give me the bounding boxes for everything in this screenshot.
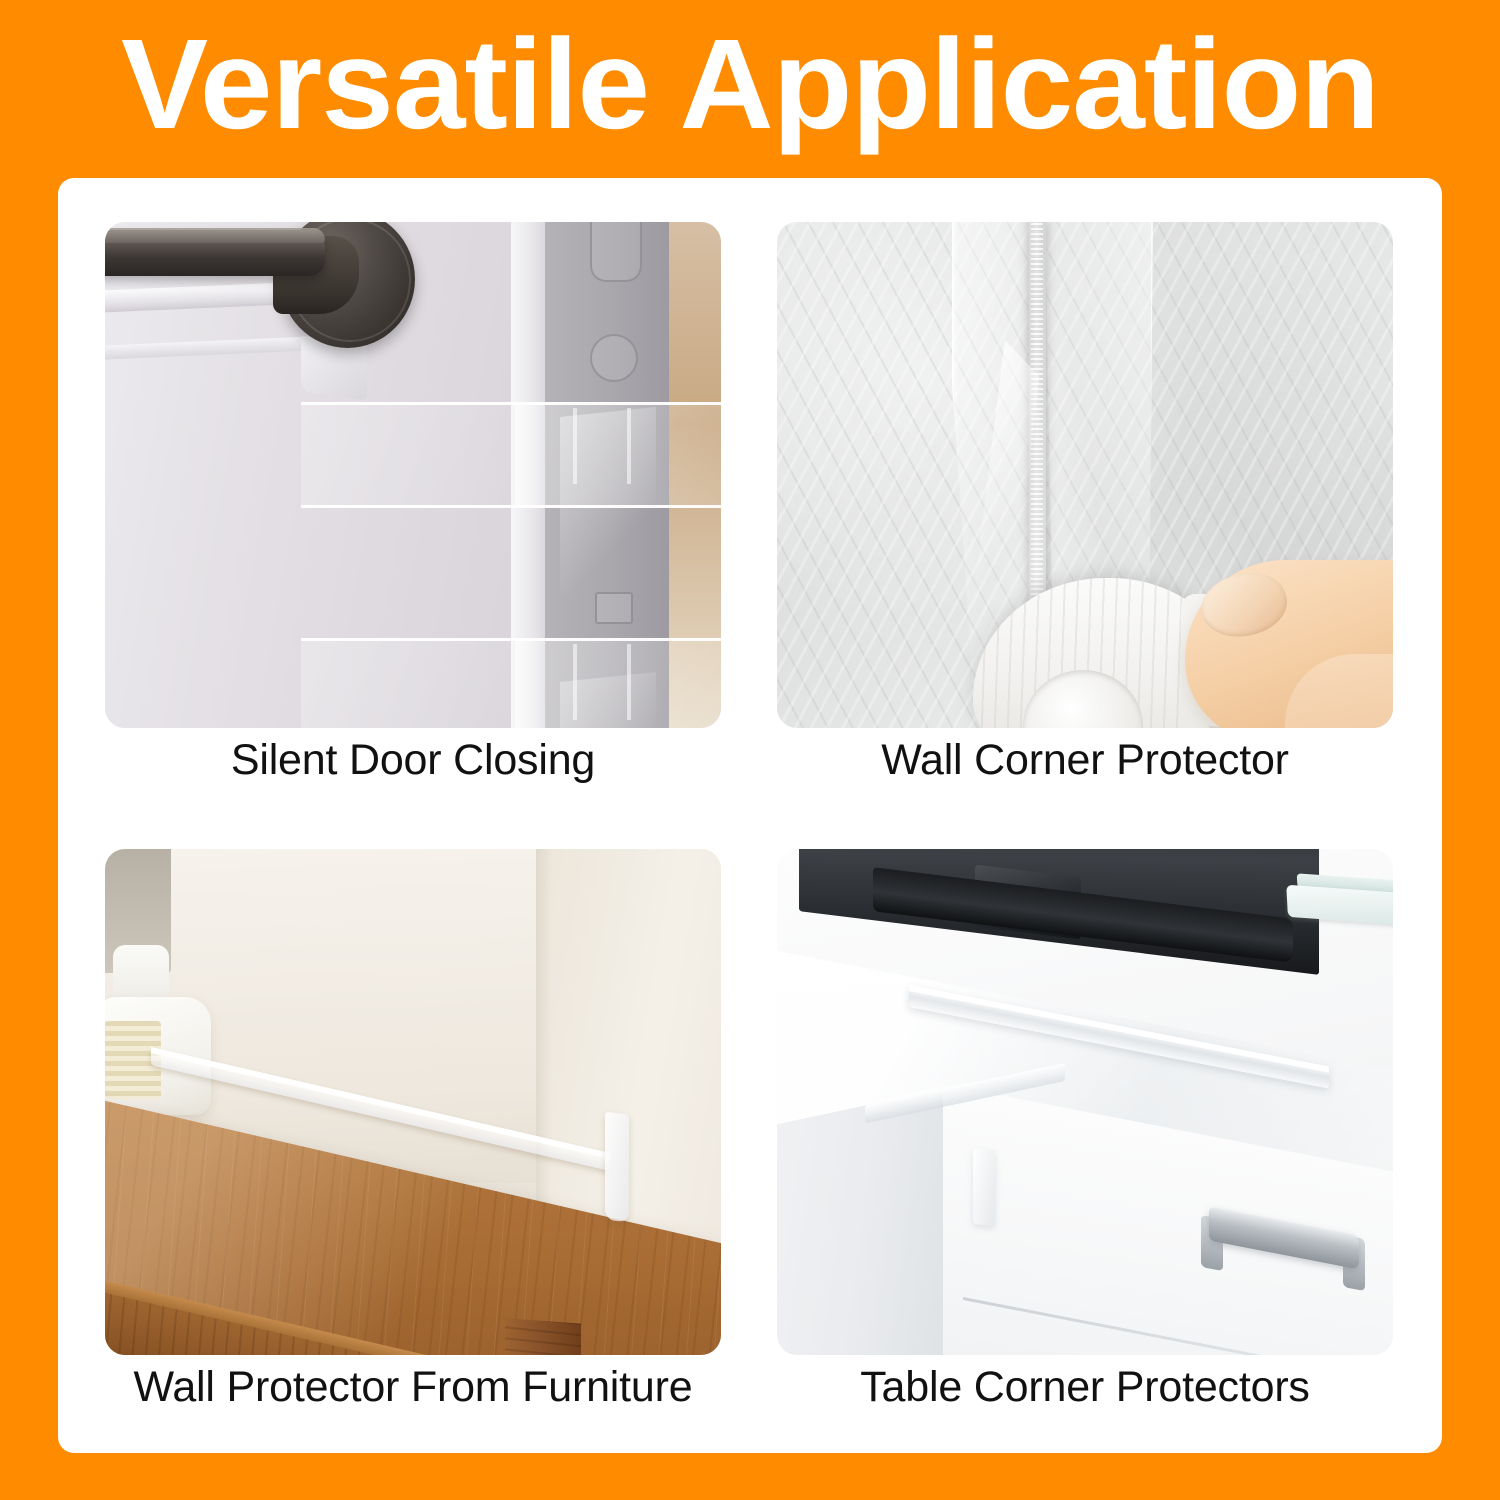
- protector-edge-wrap: [515, 402, 549, 508]
- humidifier-top: [113, 945, 169, 1005]
- protector-reflection: [573, 644, 577, 720]
- corner-protector-strip-lower: [301, 638, 721, 728]
- protector-edge-wrap: [515, 638, 549, 728]
- photo-silent-door-closing[interactable]: [105, 222, 721, 728]
- protector-front-wrap: [301, 638, 515, 728]
- door-handle-lever-highlight: [105, 228, 325, 243]
- protector-reflection: [573, 408, 577, 484]
- grid-cell-table-corner-protectors[interactable]: Table Corner Protectors: [777, 849, 1393, 1412]
- infographic-root: Versatile Application: [0, 0, 1500, 1500]
- latch-plate-square: [595, 592, 633, 624]
- cabinet-side-panel: [777, 1089, 943, 1355]
- content-card: Silent Door Closing: [58, 178, 1442, 1453]
- protector-reflection-2: [627, 408, 631, 484]
- photo-wall-protector-from-furniture[interactable]: [105, 849, 721, 1355]
- photo-table-corner-protectors[interactable]: [777, 849, 1393, 1355]
- clear-edge-protector-corner: [973, 1148, 995, 1226]
- protector-front-wrap: [301, 402, 515, 508]
- clear-protector-corner-piece: [605, 1112, 629, 1223]
- table-leg-grain: [505, 1318, 581, 1355]
- caption-table-corner-protectors: Table Corner Protectors: [777, 1361, 1393, 1413]
- grid-cell-wall-corner-protector[interactable]: Wall Corner Protector: [777, 222, 1393, 785]
- corner-protector-strip-upper: [301, 402, 721, 508]
- protector-reflection-2: [627, 644, 631, 720]
- caption-silent-door-closing: Silent Door Closing: [105, 734, 721, 786]
- caption-wall-protector-from-furniture: Wall Protector From Furniture: [105, 1361, 721, 1413]
- application-grid: Silent Door Closing: [105, 222, 1393, 1412]
- grid-cell-silent-door-closing[interactable]: Silent Door Closing: [105, 222, 721, 785]
- latch-plate-upper: [590, 222, 642, 282]
- latch-plate-circle: [590, 334, 638, 382]
- photo-wall-corner-protector[interactable]: [777, 222, 1393, 728]
- page-title: Versatile Application: [0, 26, 1500, 144]
- grid-cell-wall-protector-from-furniture[interactable]: Wall Protector From Furniture: [105, 849, 721, 1412]
- caption-wall-corner-protector: Wall Corner Protector: [777, 734, 1393, 786]
